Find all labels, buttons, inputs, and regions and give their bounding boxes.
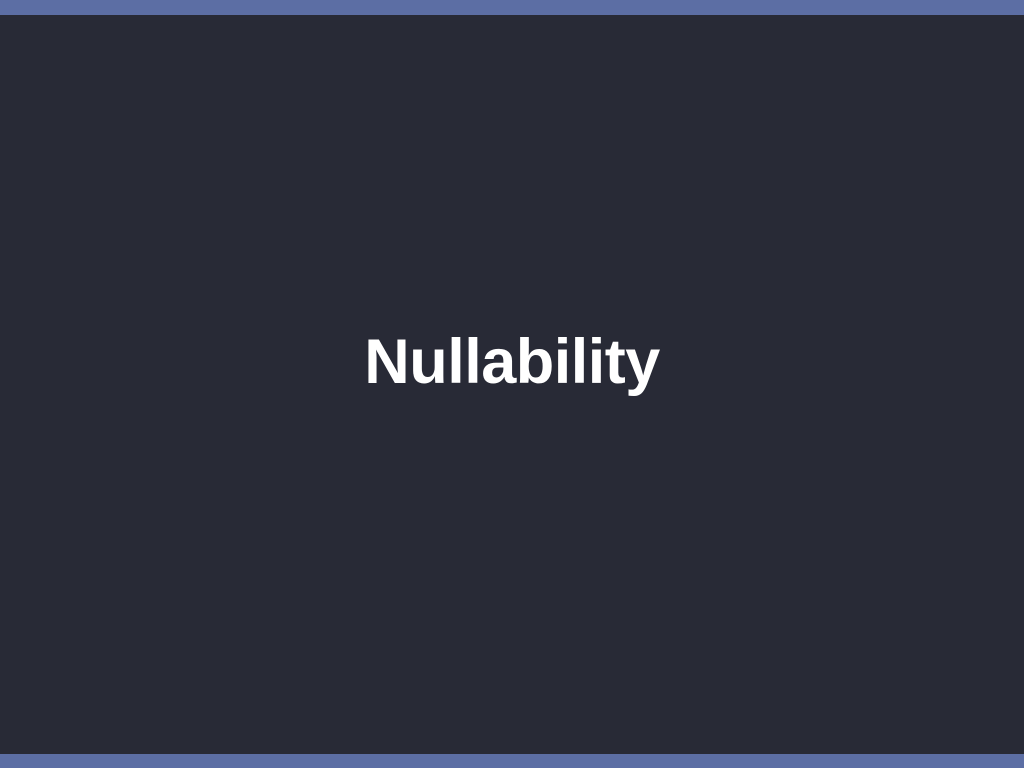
presentation-slide: Nullability — [0, 0, 1024, 768]
slide-content-area: Nullability — [0, 15, 1024, 754]
top-accent-bar — [0, 0, 1024, 15]
bottom-accent-bar — [0, 754, 1024, 768]
slide-title: Nullability — [364, 329, 660, 395]
